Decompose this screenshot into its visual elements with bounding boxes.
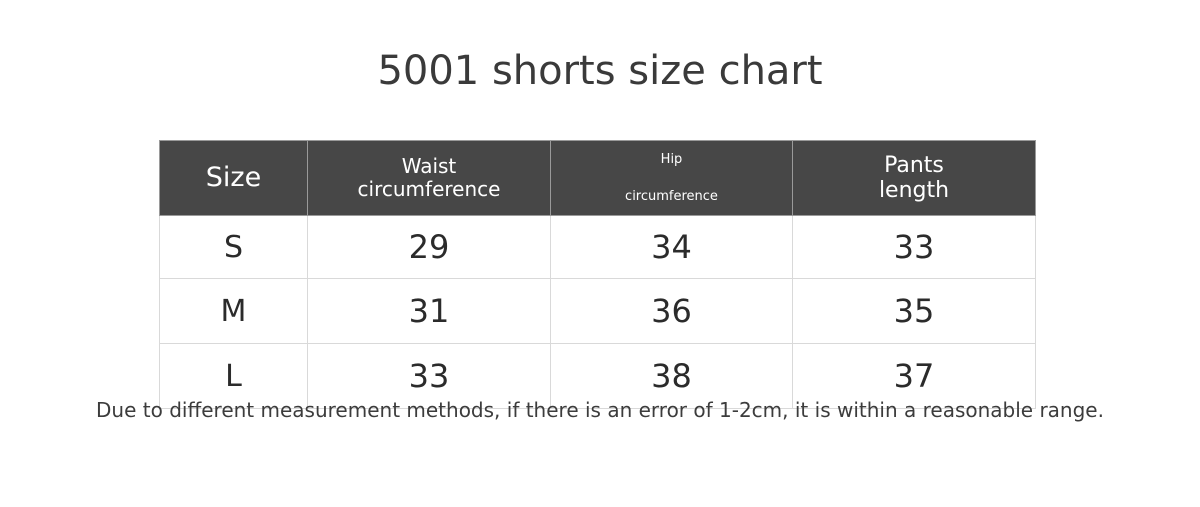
measurement-disclaimer: Due to different measurement methods, if… bbox=[0, 396, 1200, 424]
cell-length: 33 bbox=[793, 216, 1036, 279]
column-header-hip-line1: Hip bbox=[555, 141, 788, 178]
column-header-waist-circumference: Waist circumference bbox=[308, 141, 551, 216]
cell-size: S bbox=[160, 216, 308, 279]
table-row: M 31 36 35 bbox=[160, 279, 1036, 344]
column-header-size: Size bbox=[160, 141, 308, 216]
cell-length: 35 bbox=[793, 279, 1036, 344]
cell-waist: 29 bbox=[308, 216, 551, 279]
table-header: Size Waist circumference Hip circumferen… bbox=[160, 141, 1036, 216]
column-header-pants-length: Pants length bbox=[793, 141, 1036, 216]
size-chart-table: Size Waist circumference Hip circumferen… bbox=[159, 140, 1036, 409]
table-header-row: Size Waist circumference Hip circumferen… bbox=[160, 141, 1036, 216]
table-body: S 29 34 33 M 31 36 35 L 33 38 37 bbox=[160, 216, 1036, 409]
column-header-waist-line2: circumference bbox=[312, 178, 546, 201]
column-header-hip-circumference: Hip circumference bbox=[551, 141, 793, 216]
column-header-waist-line1: Waist bbox=[312, 155, 546, 178]
column-header-length-line2: length bbox=[797, 178, 1031, 203]
table-row: S 29 34 33 bbox=[160, 216, 1036, 279]
cell-waist: 31 bbox=[308, 279, 551, 344]
cell-hip: 36 bbox=[551, 279, 793, 344]
column-header-hip-line2: circumference bbox=[555, 178, 788, 215]
column-header-length-line1: Pants bbox=[797, 153, 1031, 178]
cell-hip: 34 bbox=[551, 216, 793, 279]
page-title: 5001 shorts size chart bbox=[0, 46, 1200, 96]
cell-size: M bbox=[160, 279, 308, 344]
